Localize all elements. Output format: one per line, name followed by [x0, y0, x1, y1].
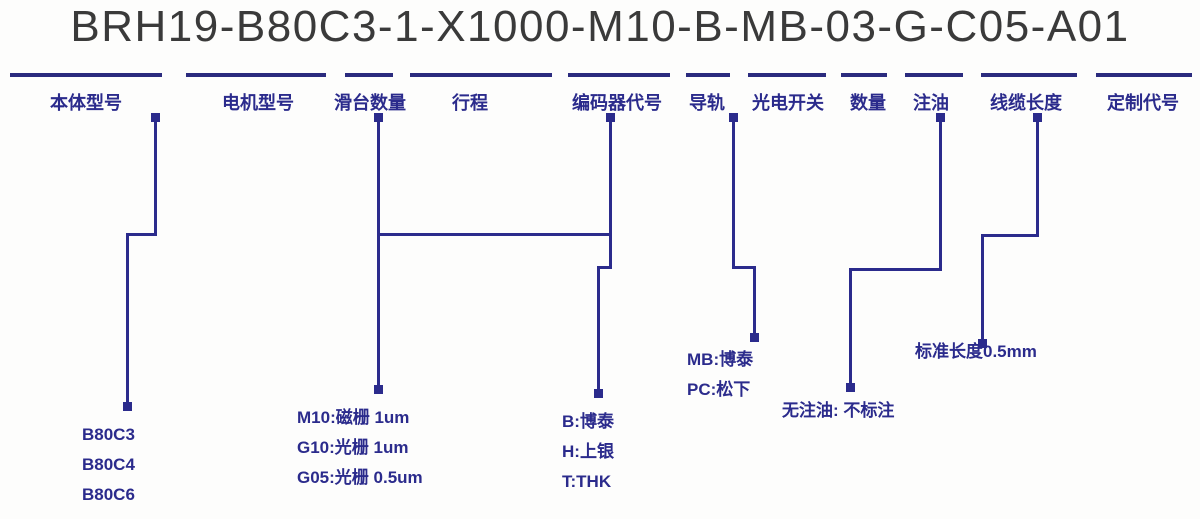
callout-cable-length: 标准长度0.5mm: [915, 337, 1037, 367]
column-label-custom-code: 定制代号: [1090, 89, 1196, 115]
tick-custom-code: [1096, 73, 1192, 77]
callout-option: G10:光栅 1um: [297, 433, 423, 463]
leader-vline-encoder-a: [377, 118, 380, 234]
leader-vline-body-model-b: [126, 233, 129, 405]
callout-photo-switch: MB:博泰 PC:松下: [687, 345, 753, 405]
leader-vline-cable-b: [981, 234, 984, 342]
page-title: BRH19-B80C3-1-X1000-M10-B-MB-03-G-C05-A0…: [0, 2, 1200, 52]
leader-hline-body-model: [126, 233, 157, 236]
column-label-body-model: 本体型号: [31, 89, 141, 115]
leader-vline-rail-a: [609, 118, 612, 268]
callout-option: H:上银: [562, 437, 614, 467]
callout-option: B80C4: [82, 450, 135, 480]
leader-vline-encoder-b: [377, 233, 380, 388]
column-label-stroke: 行程: [433, 89, 507, 115]
callout-option: T:THK: [562, 467, 614, 497]
leader-node-oiling-end: [846, 383, 855, 392]
column-label-oiling: 注油: [906, 89, 956, 115]
callout-option: 无注油: 不标注: [782, 396, 894, 426]
leader-vline-rail-b: [597, 266, 600, 392]
column-label-photo-switch: 光电开关: [745, 89, 831, 115]
column-label-quantity: 数量: [843, 89, 893, 115]
leader-node-photo-end: [750, 333, 759, 342]
leader-node-encoder-end: [374, 385, 383, 394]
leader-node-body-model-end: [123, 402, 132, 411]
tick-encoder-code: [568, 73, 670, 77]
tick-quantity: [841, 73, 887, 77]
tick-slide-count: [345, 73, 393, 77]
tick-motor-model: [186, 73, 326, 77]
leader-hline-cable: [981, 234, 1039, 237]
callout-option: B:博泰: [562, 407, 614, 437]
callout-option: M10:磁栅 1um: [297, 403, 423, 433]
tick-oiling: [905, 73, 963, 77]
callout-option: 标准长度0.5mm: [915, 337, 1037, 367]
callout-oiling: 无注油: 不标注: [782, 396, 894, 426]
callout-encoder-code: M10:磁栅 1um G10:光栅 1um G05:光栅 0.5um: [297, 403, 423, 493]
tick-photo-switch: [748, 73, 826, 77]
callout-option: PC:松下: [687, 375, 753, 405]
leader-hline-oiling: [849, 268, 942, 271]
tick-body-model: [10, 73, 162, 77]
part-number-breakdown-diagram: BRH19-B80C3-1-X1000-M10-B-MB-03-G-C05-A0…: [0, 0, 1200, 519]
tick-rail: [686, 73, 730, 77]
tick-stroke: [410, 73, 552, 77]
leader-vline-cable-a: [1036, 118, 1039, 236]
column-label-encoder-code: 编码器代号: [557, 89, 677, 115]
callout-option: B80C3: [82, 420, 135, 450]
column-label-cable-length: 线缆长度: [973, 89, 1079, 115]
leader-vline-photo-a: [732, 118, 735, 268]
leader-vline-oiling-a: [939, 118, 942, 270]
leader-vline-body-model-a: [154, 118, 157, 235]
leader-node-rail-end: [594, 389, 603, 398]
leader-vline-photo-b: [753, 266, 756, 336]
callout-option: MB:博泰: [687, 345, 753, 375]
leader-vline-oiling-b: [849, 268, 852, 386]
callout-body-model: B80C3 B80C4 B80C6: [82, 420, 135, 510]
column-label-motor-model: 电机型号: [210, 89, 306, 115]
callout-rail: B:博泰 H:上银 T:THK: [562, 407, 614, 497]
leader-hline-encoder: [377, 233, 609, 236]
tick-cable-length: [981, 73, 1077, 77]
callout-option: B80C6: [82, 480, 135, 510]
column-label-slide-count: 滑台数量: [322, 89, 418, 115]
callout-option: G05:光栅 0.5um: [297, 463, 423, 493]
column-label-rail: 导轨: [682, 89, 732, 115]
